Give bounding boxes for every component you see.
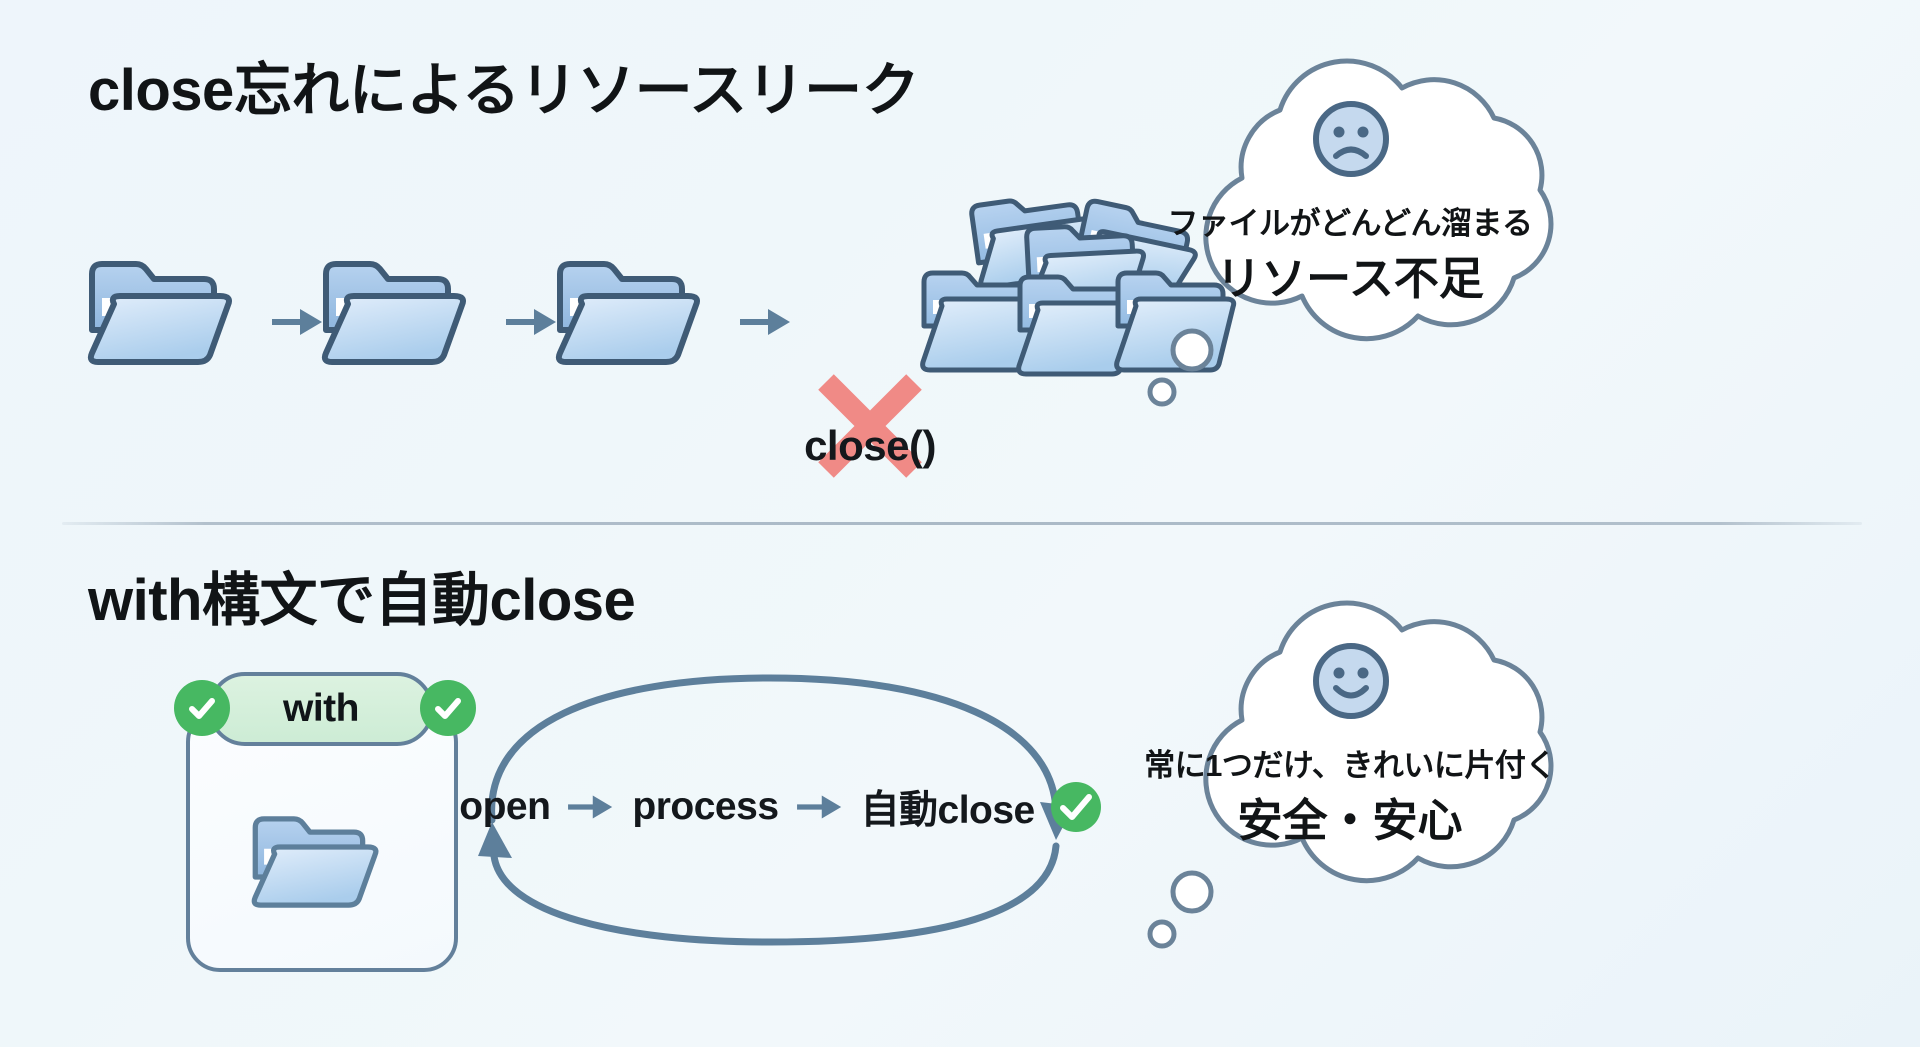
- folder-icon-2: [320, 258, 470, 368]
- check-circle-icon-left: [174, 680, 230, 736]
- arrow-right-icon-flow-1: [566, 792, 616, 822]
- sad-face-icon: [1310, 98, 1392, 180]
- infographic-canvas: close忘れによるリソースリーク: [0, 0, 1920, 1047]
- flow-step-open: open: [459, 785, 550, 829]
- with-keyword-label: with: [283, 687, 359, 731]
- bubble-solution-line-2: 安全・安心: [1130, 784, 1570, 849]
- flow-step-process: process: [632, 785, 778, 829]
- with-lifecycle-flow: open process 自動close: [440, 660, 1120, 950]
- bubble-problem-line-1: ファイルがどんどん溜まる: [1130, 198, 1570, 243]
- close-call-label: close(): [760, 422, 980, 470]
- with-keyword-pill: with: [208, 672, 434, 746]
- bubble-problem-line-2: リソース不足: [1130, 242, 1570, 307]
- arrow-right-icon-flow-2: [795, 792, 845, 822]
- folder-icon-managed: [250, 812, 382, 912]
- flow-step-auto-close: 自動close: [861, 779, 1035, 835]
- bubble-solution-line-1: 常に1つだけ、きれいに片付く: [1130, 740, 1570, 785]
- happy-face-icon: [1310, 640, 1392, 722]
- loop-arrow-return: [494, 846, 1056, 942]
- flow-steps-row: open process 自動close: [440, 772, 1120, 842]
- close-call-crossed-out: close(): [760, 372, 980, 492]
- thought-bubble-problem: ファイルがどんどん溜まる リソース不足: [1130, 58, 1570, 418]
- arrow-right-icon-2: [506, 305, 558, 339]
- check-circle-icon-right: [420, 680, 476, 736]
- folder-icon-1: [86, 258, 236, 368]
- section-title-top: close忘れによるリソースリーク: [88, 62, 919, 120]
- thought-bubble-solution: 常に1つだけ、きれいに片付く 安全・安心: [1130, 600, 1570, 960]
- arrow-right-icon-3: [740, 305, 792, 339]
- check-circle-icon-flow: [1051, 782, 1101, 832]
- section-title-bottom: with構文で自動close: [88, 572, 635, 630]
- with-block-diagram: with: [180, 672, 470, 972]
- folder-icon-3: [554, 258, 704, 368]
- section-divider: [62, 522, 1862, 525]
- arrow-right-icon-1: [272, 305, 324, 339]
